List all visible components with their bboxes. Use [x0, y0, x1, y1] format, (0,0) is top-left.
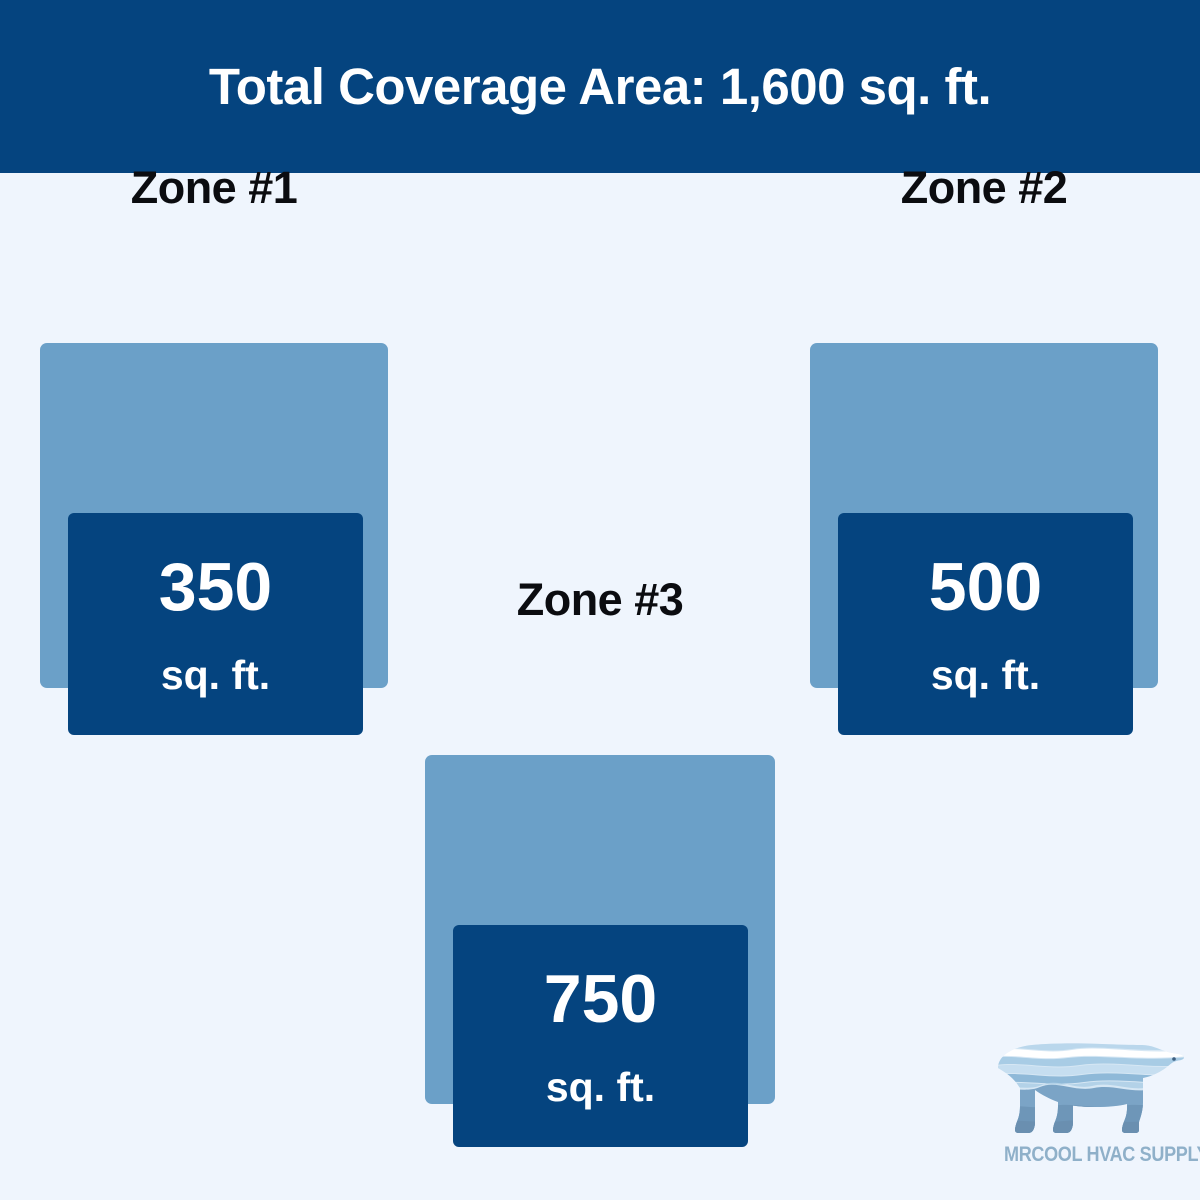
zone-outer-area-1: 350 sq. ft.	[40, 343, 388, 688]
zone-label-2: Zone #2	[810, 165, 1158, 210]
zone-inner-area-3: 750 sq. ft.	[453, 925, 748, 1147]
zone-value-1: 350	[159, 553, 272, 621]
polar-bear-icon	[990, 1030, 1190, 1142]
brand-name: MRCOOL HVAC SUPPLY	[1004, 1144, 1176, 1165]
zone-card-3[interactable]: Zone #3 750 sq. ft.	[425, 645, 775, 994]
header-band: Total Coverage Area: 1,600 sq. ft.	[0, 0, 1200, 173]
zone-label-3: Zone #3	[425, 577, 775, 622]
zone-label-1: Zone #1	[40, 165, 388, 210]
zone-outer-area-3: 750 sq. ft.	[425, 755, 775, 1104]
page-title: Total Coverage Area: 1,600 sq. ft.	[209, 61, 991, 112]
zone-inner-area-2: 500 sq. ft.	[838, 513, 1133, 735]
zone-value-3: 750	[544, 965, 657, 1033]
zone-unit-2: sq. ft.	[931, 655, 1040, 696]
zone-inner-area-1: 350 sq. ft.	[68, 513, 363, 735]
bear-eye-icon	[1172, 1057, 1176, 1061]
brand-logo: MRCOOL HVAC SUPPLY	[990, 1030, 1190, 1185]
zone-outer-area-2: 500 sq. ft.	[810, 343, 1158, 688]
zone-value-2: 500	[929, 553, 1042, 621]
zone-card-2[interactable]: Zone #2 500 sq. ft.	[810, 233, 1158, 578]
bear-landscape-fill	[990, 1030, 1190, 1142]
zone-unit-3: sq. ft.	[546, 1067, 655, 1108]
zone-card-1[interactable]: Zone #1 350 sq. ft.	[40, 233, 388, 578]
zone-unit-1: sq. ft.	[161, 655, 270, 696]
